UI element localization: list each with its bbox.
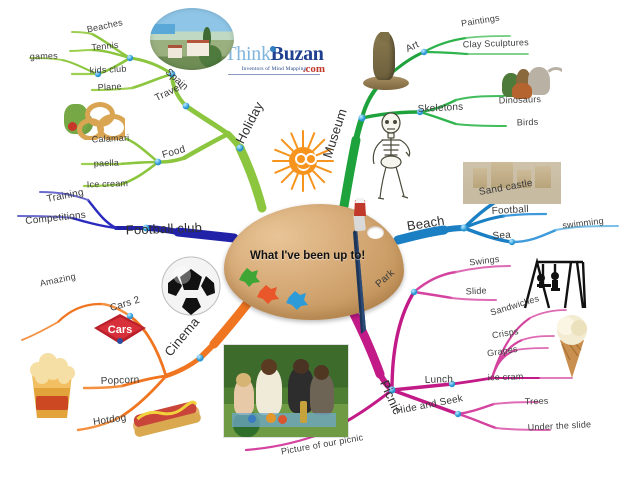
picnic-family-photo	[224, 345, 348, 437]
logo-buzan: Buzan	[271, 43, 324, 65]
label-popcorn[interactable]: Popcorn	[101, 376, 140, 387]
label-birds[interactable]: Birds	[517, 118, 539, 128]
logo-dot-icon	[270, 46, 276, 52]
hotdog-photo	[128, 398, 204, 438]
label-ice-cram[interactable]: ice cram	[488, 372, 524, 382]
thinkbuzan-logo[interactable]: ThinkBuzan .com Inventors of Mind Mappin…	[222, 44, 326, 84]
label-sea[interactable]: Sea	[492, 231, 511, 242]
label-paella[interactable]: paella	[94, 159, 120, 169]
spain-photo	[150, 8, 234, 70]
paintbrush-icon	[344, 198, 372, 334]
label-football[interactable]: Football	[491, 205, 529, 217]
popcorn-photo	[20, 348, 84, 420]
label-trees[interactable]: Trees	[525, 397, 549, 407]
palette-shape	[224, 204, 404, 320]
label-plane[interactable]: Plane	[98, 82, 122, 92]
label-football-club[interactable]: Football club	[126, 221, 203, 237]
central-topic-palette[interactable]: What I've been up to!	[224, 204, 404, 320]
central-topic-label: What I've been up to!	[250, 250, 365, 262]
ice-cream-cone-photo	[548, 312, 596, 378]
logo-underline	[228, 74, 320, 75]
label-ice-cream[interactable]: Ice cream	[87, 179, 129, 189]
label-lunch[interactable]: Lunch	[425, 375, 454, 386]
skeleton-drawing	[366, 112, 420, 200]
statue-photo	[363, 32, 409, 94]
label-games[interactable]: games	[30, 52, 58, 62]
paint-blob-blue	[285, 290, 310, 311]
paint-blob-red	[256, 284, 281, 305]
cars2-logo: Cars	[90, 312, 150, 346]
svg-text:Cars: Cars	[108, 324, 132, 336]
label-dinosaurs[interactable]: Dinosaurs	[499, 95, 542, 105]
label-slide[interactable]: Slide	[466, 286, 487, 296]
mindmap-canvas: What I've been up to! ThinkBuzan .com In…	[0, 0, 640, 481]
label-kids-club[interactable]: kids club	[90, 65, 127, 76]
football-photo	[160, 255, 222, 317]
